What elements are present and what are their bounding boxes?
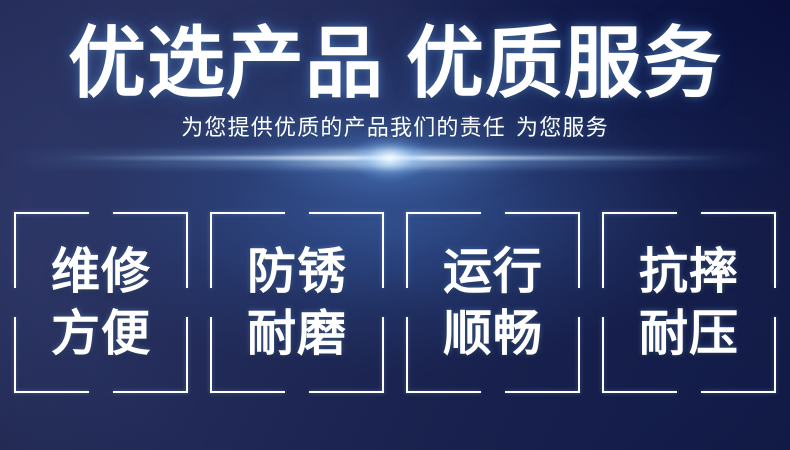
light-beam-core (60, 156, 730, 160)
feature-card-text: 抗摔 耐压 (602, 212, 776, 393)
light-beam-wide (0, 150, 790, 168)
feature-card-line-1: 维修 (51, 243, 151, 301)
feature-card-line-1: 防锈 (247, 243, 347, 301)
feature-card-line-1: 运行 (443, 243, 543, 301)
feature-card-text: 防锈 耐磨 (210, 212, 384, 393)
feature-card-line-2: 耐压 (639, 305, 739, 363)
feature-card-smooth: 运行 顺畅 (406, 212, 580, 393)
promo-banner: 优选产品优质服务 为您提供优质的产品我们的责任为您服务 维修 方便 (0, 0, 790, 450)
feature-card-text: 运行 顺畅 (406, 212, 580, 393)
banner-title-part-2: 优质服务 (406, 19, 722, 109)
feature-card-drop-resistant: 抗摔 耐压 (602, 212, 776, 393)
feature-card-text: 维修 方便 (14, 212, 188, 393)
feature-card-rustproof: 防锈 耐磨 (210, 212, 384, 393)
banner-subtitle-part-1: 为您提供优质的产品我们的责任 (181, 116, 506, 141)
feature-card-line-2: 方便 (51, 305, 151, 363)
banner-title: 优选产品优质服务 (0, 0, 790, 110)
feature-card-line-1: 抗摔 (639, 243, 739, 301)
banner-subtitle: 为您提供优质的产品我们的责任为您服务 (0, 110, 790, 144)
banner-header: 优选产品优质服务 为您提供优质的产品我们的责任为您服务 (0, 0, 790, 144)
feature-card-line-2: 耐磨 (247, 305, 347, 363)
banner-title-part-1: 优选产品 (68, 19, 384, 109)
banner-subtitle-part-2: 为您服务 (516, 116, 609, 141)
feature-card-row: 维修 方便 防锈 耐磨 (14, 212, 776, 393)
feature-card-repair: 维修 方便 (14, 212, 188, 393)
feature-card-line-2: 顺畅 (443, 305, 543, 363)
